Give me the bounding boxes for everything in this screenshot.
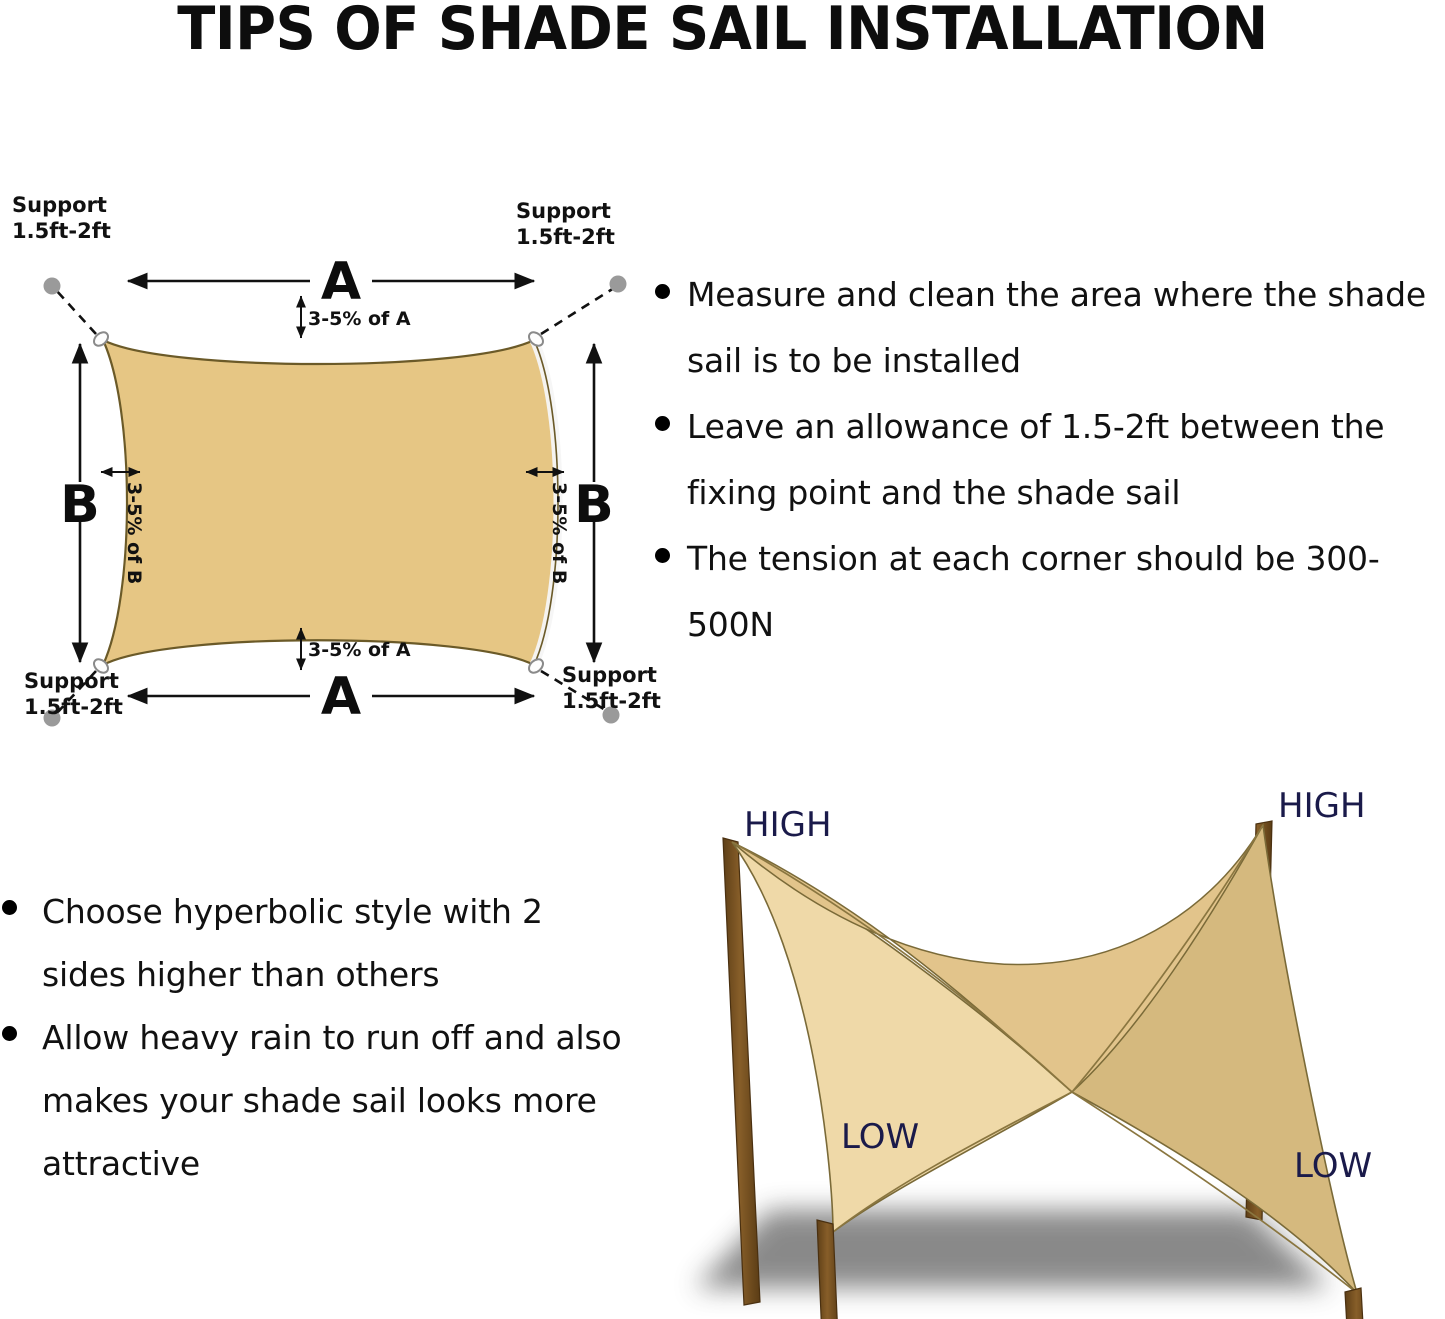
- dimension-label-b-left: B: [60, 475, 100, 535]
- label-low-left: LOW: [841, 1117, 919, 1157]
- support-label-top-right-line2: 1.5ft-2ft: [516, 225, 615, 249]
- curve-label-left: 3-5% of B: [123, 482, 145, 584]
- curve-label-right: 3-5% of B: [548, 482, 570, 584]
- support-label-bottom-left-line2: 1.5ft-2ft: [24, 695, 123, 719]
- list-item: The tension at each corner should be 300…: [645, 526, 1445, 658]
- installation-tips-list: Measure and clean the area where the sha…: [645, 262, 1445, 662]
- support-dot-top-left: [44, 278, 61, 295]
- list-item: Measure and clean the area where the sha…: [645, 262, 1445, 394]
- style-text: Choose hyperbolic style with 2 sides hig…: [42, 880, 625, 1006]
- label-high-right: HIGH: [1278, 786, 1366, 826]
- curve-label-bottom: 3-5% of A: [308, 639, 411, 661]
- bullet-dot-icon: [655, 548, 670, 563]
- support-label-bottom-right-line1: Support: [562, 663, 657, 687]
- support-label-top-left-line1: Support: [12, 193, 107, 217]
- tip-text: The tension at each corner should be 300…: [687, 526, 1445, 658]
- dimension-label-a-bottom: A: [321, 667, 361, 727]
- infographic-page: TIPS OF SHADE SAIL INSTALLATION: [0, 0, 1445, 1319]
- rectangle-sail-diagram: Support 1.5ft-2ft Support 1.5ft-2ft Supp…: [0, 160, 660, 720]
- support-label-top-left-line2: 1.5ft-2ft: [12, 219, 111, 243]
- dimension-label-a-top: A: [321, 252, 361, 312]
- support-dot-top-right: [610, 276, 627, 293]
- bullet-dot-icon: [2, 900, 17, 915]
- hyperbolic-style-list: Choose hyperbolic style with 2 sides hig…: [0, 880, 625, 1210]
- support-label-bottom-left-line1: Support: [24, 669, 119, 693]
- dimension-label-b-right: B: [574, 475, 614, 535]
- list-item: Choose hyperbolic style with 2 sides hig…: [0, 880, 625, 1006]
- bullet-dot-icon: [655, 284, 670, 299]
- curve-allowance-left: 3-5% of B: [101, 472, 145, 584]
- post-low-right: [1345, 1288, 1370, 1319]
- post-high-left: [723, 838, 760, 1305]
- support-label-top-right-line1: Support: [516, 199, 611, 223]
- support-label-bottom-right-line2: 1.5ft-2ft: [562, 689, 661, 713]
- list-item: Allow heavy rain to run off and also mak…: [0, 1006, 625, 1195]
- tip-text: Measure and clean the area where the sha…: [687, 262, 1445, 394]
- bullet-dot-icon: [2, 1026, 17, 1041]
- curve-label-top: 3-5% of A: [308, 308, 411, 330]
- label-low-right: LOW: [1294, 1146, 1372, 1186]
- style-text: Allow heavy rain to run off and also mak…: [42, 1006, 625, 1195]
- hyperbolic-sail-diagram: HIGH HIGH LOW LOW: [640, 780, 1445, 1319]
- list-item: Leave an allowance of 1.5-2ft between th…: [645, 394, 1445, 526]
- bullet-dot-icon: [655, 416, 670, 431]
- label-high-left: HIGH: [744, 805, 832, 845]
- tip-text: Leave an allowance of 1.5-2ft between th…: [687, 394, 1445, 526]
- page-title: TIPS OF SHADE SAIL INSTALLATION: [51, 0, 1395, 64]
- ground-shadow: [695, 1210, 1330, 1288]
- sail-shape: [103, 340, 558, 665]
